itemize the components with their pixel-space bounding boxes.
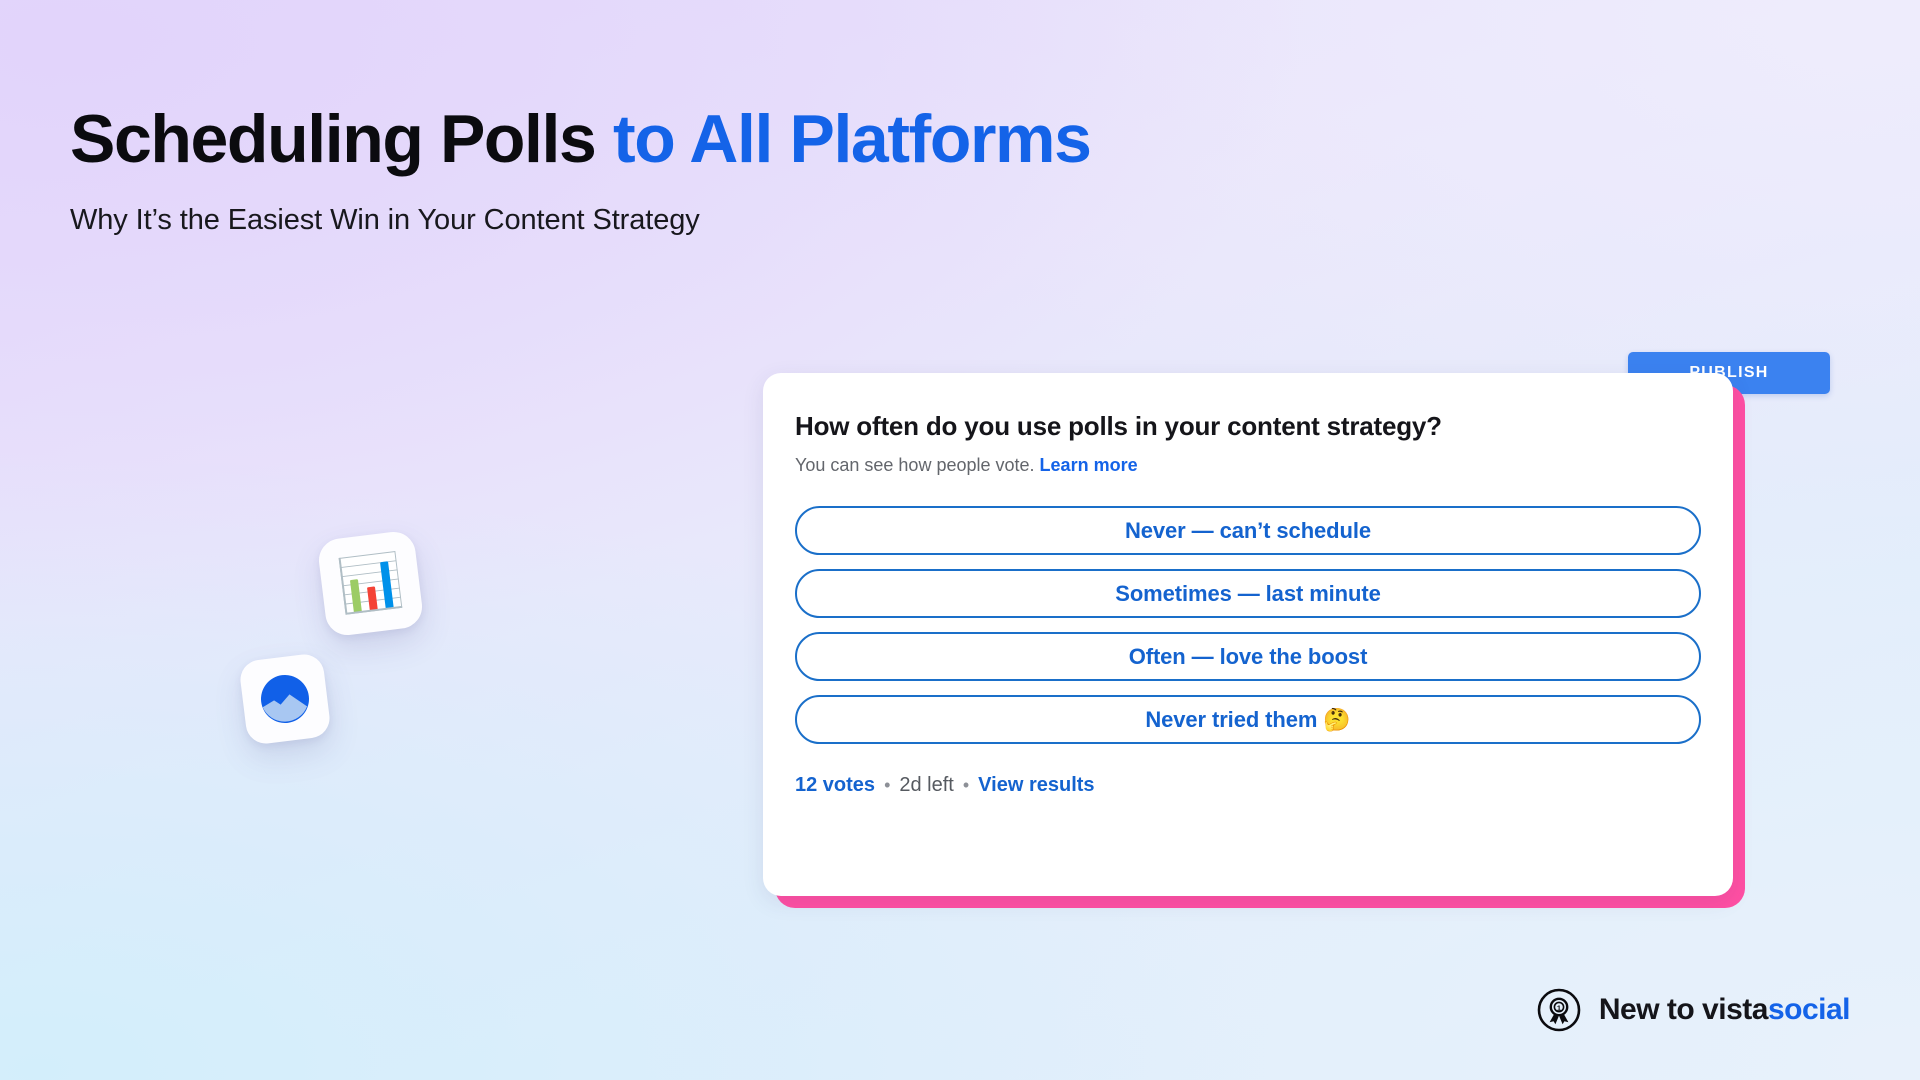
poll-options-list: Never — can’t schedule Sometimes — last … bbox=[795, 506, 1701, 744]
poll-footer: 12 votes • 2d left • View results bbox=[795, 774, 1701, 797]
page-subtitle: Why It’s the Easiest Win in Your Content… bbox=[70, 204, 1091, 237]
page-title: Scheduling Polls to All Platforms bbox=[70, 105, 1091, 174]
poll-option[interactable]: Sometimes — last minute bbox=[795, 569, 1701, 618]
brand-footer: 1 New to vistasocial bbox=[1537, 988, 1850, 1032]
poll-card-stack: How often do you use polls in your conte… bbox=[763, 373, 1733, 896]
separator-dot: • bbox=[963, 775, 969, 796]
page-title-accent: to All Platforms bbox=[613, 101, 1091, 177]
view-results-link[interactable]: View results bbox=[978, 774, 1094, 797]
poll-subtext-row: You can see how people vote. Learn more bbox=[795, 455, 1701, 476]
poll-time-left: 2d left bbox=[899, 774, 953, 797]
vista-social-logo-icon bbox=[254, 668, 316, 730]
poll-card: How often do you use polls in your conte… bbox=[763, 373, 1733, 896]
learn-more-link[interactable]: Learn more bbox=[1040, 455, 1138, 475]
poll-option[interactable]: Never tried them 🤔 bbox=[795, 695, 1701, 744]
poll-option[interactable]: Never — can’t schedule bbox=[795, 506, 1701, 555]
award-ribbon-icon: 1 bbox=[1537, 988, 1581, 1032]
brand-name-social: social bbox=[1768, 993, 1850, 1026]
separator-dot: • bbox=[884, 775, 890, 796]
vista-social-app-icon bbox=[238, 652, 332, 746]
bar-chart-app-icon: 📊 bbox=[316, 529, 424, 637]
poll-question: How often do you use polls in your conte… bbox=[795, 411, 1701, 442]
svg-text:1: 1 bbox=[1557, 1003, 1561, 1012]
page-heading: Scheduling Polls to All Platforms Why It… bbox=[70, 105, 1091, 237]
brand-name-vista: vista bbox=[1702, 993, 1768, 1026]
page-title-primary: Scheduling Polls bbox=[70, 101, 613, 177]
poll-vote-count: 12 votes bbox=[795, 774, 875, 797]
bar-chart-icon: 📊 bbox=[335, 554, 406, 614]
poll-subtext: You can see how people vote. bbox=[795, 455, 1035, 475]
brand-prefix: New to bbox=[1599, 993, 1702, 1026]
brand-text: New to vistasocial bbox=[1599, 993, 1850, 1027]
poll-option[interactable]: Often — love the boost bbox=[795, 632, 1701, 681]
